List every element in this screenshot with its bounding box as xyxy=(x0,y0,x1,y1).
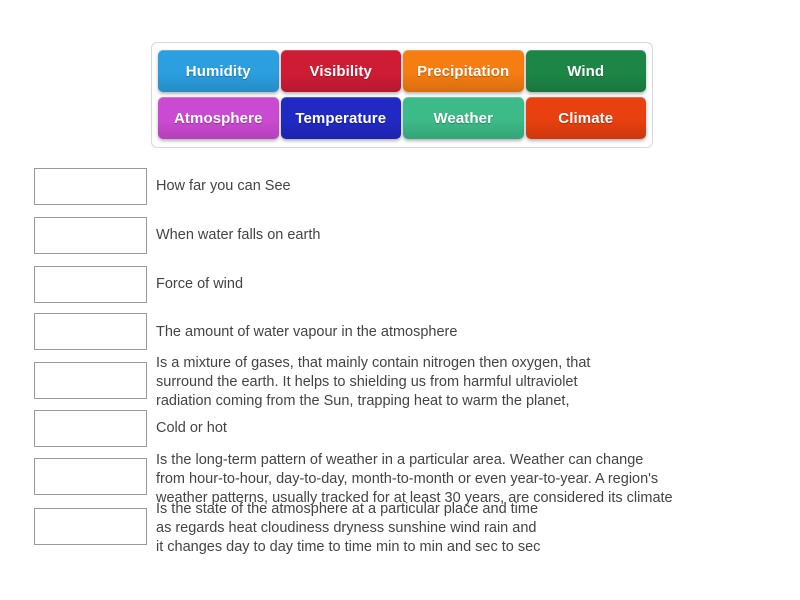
tile-wind[interactable]: Wind xyxy=(526,50,647,92)
dropzone-5[interactable] xyxy=(34,362,147,399)
dropzone-4[interactable] xyxy=(34,313,147,350)
tile-visibility[interactable]: Visibility xyxy=(281,50,402,92)
tile-label: Temperature xyxy=(295,110,386,127)
definition-text-2: When water falls on earth xyxy=(156,226,756,245)
tile-temperature[interactable]: Temperature xyxy=(281,97,402,139)
dropzone-3[interactable] xyxy=(34,266,147,303)
tile-weather[interactable]: Weather xyxy=(403,97,524,139)
tile-row-1: Humidity Visibility Precipitation Wind xyxy=(157,49,647,96)
tile-label: Precipitation xyxy=(417,63,509,80)
tile-label: Weather xyxy=(433,110,493,127)
tile-label: Wind xyxy=(567,63,604,80)
answer-tile-bank: Humidity Visibility Precipitation Wind A… xyxy=(151,42,653,148)
tile-label: Atmosphere xyxy=(174,110,263,127)
definition-text-4: The amount of water vapour in the atmosp… xyxy=(156,323,756,342)
tile-precipitation[interactable]: Precipitation xyxy=(403,50,524,92)
tile-climate[interactable]: Climate xyxy=(526,97,647,139)
definition-text-8: Is the state of the atmosphere at a part… xyxy=(156,500,756,557)
definition-text-1: How far you can See xyxy=(156,177,756,196)
tile-atmosphere[interactable]: Atmosphere xyxy=(158,97,279,139)
tile-row-2: Atmosphere Temperature Weather Climate xyxy=(157,96,647,143)
definition-text-5: Is a mixture of gases, that mainly conta… xyxy=(156,354,756,411)
dropzone-7[interactable] xyxy=(34,458,147,495)
tile-label: Climate xyxy=(558,110,613,127)
tile-label: Humidity xyxy=(186,63,251,80)
dropzone-8[interactable] xyxy=(34,508,147,545)
tile-humidity[interactable]: Humidity xyxy=(158,50,279,92)
definition-text-3: Force of wind xyxy=(156,275,756,294)
dropzone-2[interactable] xyxy=(34,217,147,254)
dropzone-6[interactable] xyxy=(34,410,147,447)
dropzone-1[interactable] xyxy=(34,168,147,205)
definition-text-6: Cold or hot xyxy=(156,419,756,438)
tile-label: Visibility xyxy=(310,63,372,80)
